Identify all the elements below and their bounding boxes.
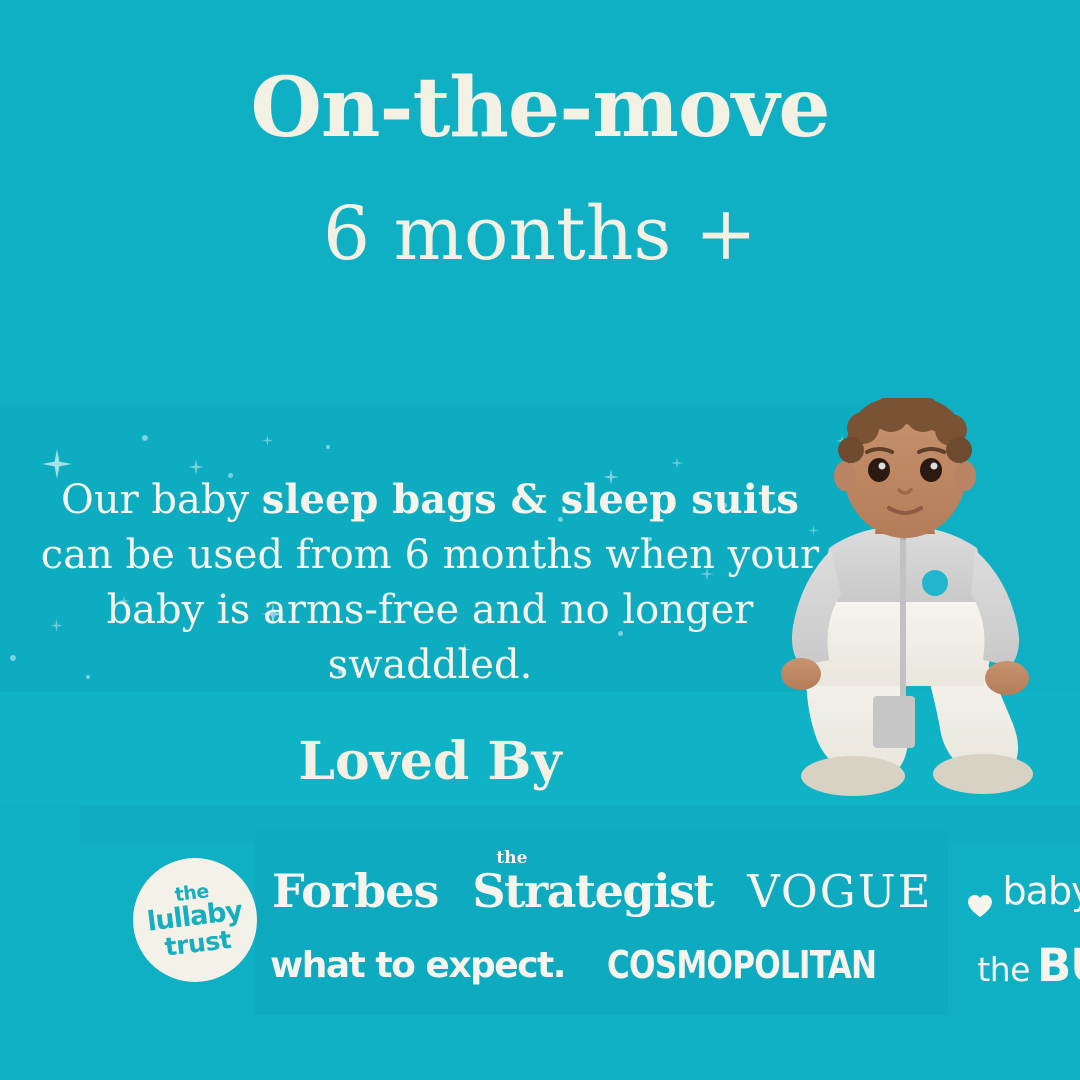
logo-the-strategist: the Strategist [472,864,713,918]
promo-banner: On-the-move 6 months + Our baby sleep ba… [0,0,1080,1080]
lullaby-trust-badge: the lullaby trust [133,858,257,982]
logo-what-to-expect: what to expect. [270,945,565,986]
description-text-after: can be used from 6 months when your baby… [41,532,819,688]
description-text-before: Our baby [61,477,262,523]
logo-forbes: Forbes [272,864,438,918]
baby-product-photo [745,398,1065,798]
loved-by-heading: Loved By [140,732,720,792]
bump-the-prefix: the [977,950,1030,989]
press-logos-row-2: what to expect. COSMOPOLITAN the BUMP [262,934,960,996]
trust-badge-line3: trust [163,926,232,961]
press-logos: Forbes the Strategist VOGUE babylist wha… [262,852,952,1012]
heart-icon [967,883,993,907]
page-title: On-the-move [0,62,1080,154]
logo-cosmopolitan: COSMOPOLITAN [607,943,876,987]
page-subtitle: 6 months + [0,190,1080,278]
description-paragraph: Our baby sleep bags & sleep suits can be… [20,472,840,693]
background-band-bottom [0,1015,1080,1080]
babylist-wordmark: babylist [1003,869,1080,913]
press-logos-row-1: Forbes the Strategist VOGUE babylist [262,860,962,922]
strategist-the-superscript: the [496,848,527,868]
bump-wordmark: BUMP [1037,939,1080,992]
logo-babylist: babylist [967,869,1080,913]
logo-vogue: VOGUE [747,865,932,918]
description-text-bold: sleep bags & sleep suits [262,476,799,523]
logo-the-bump: the BUMP [977,939,1080,992]
strategist-wordmark: Strategist [472,864,713,918]
